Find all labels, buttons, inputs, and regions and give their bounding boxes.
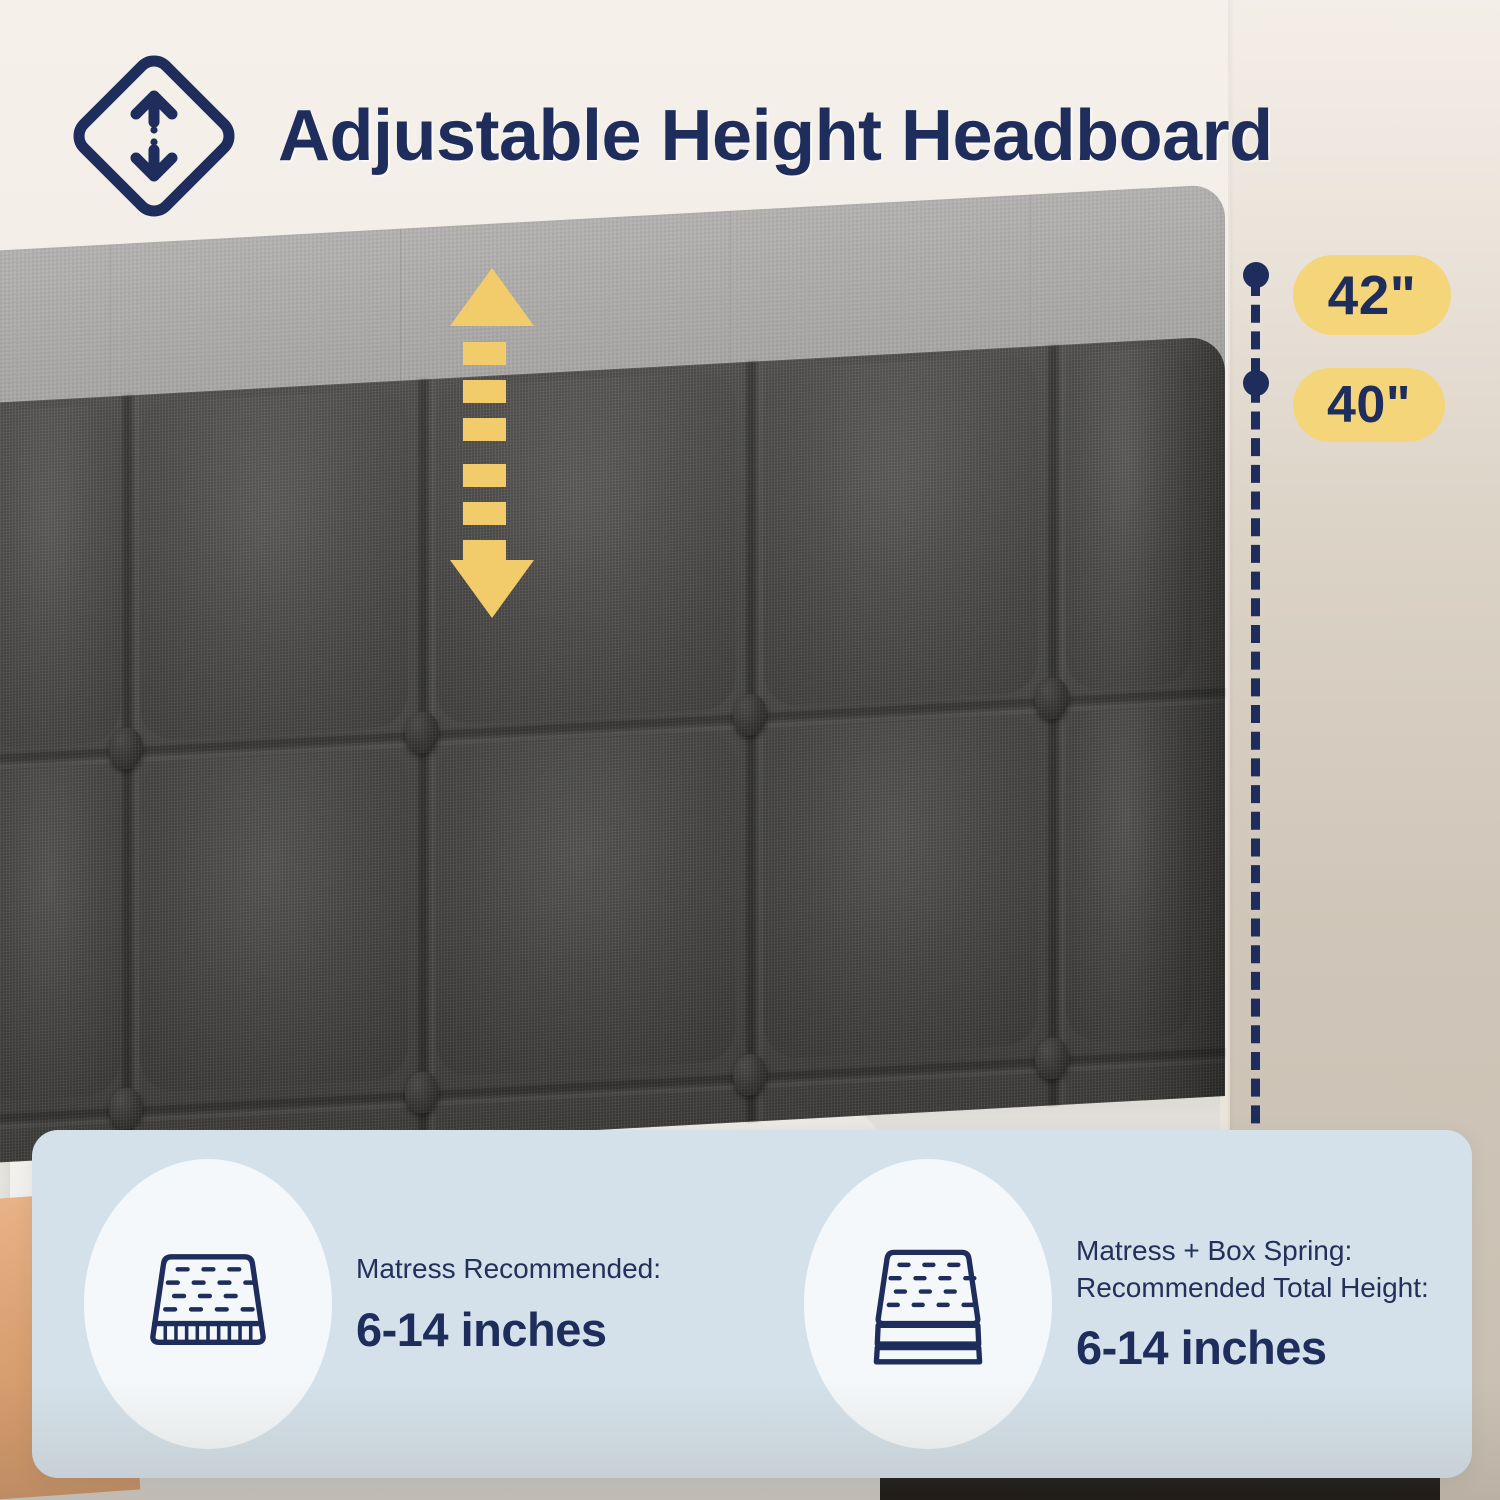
mattress-box-spring-label: Matress + Box Spring: Recommended Total … bbox=[1076, 1233, 1429, 1307]
page-title-row: Adjustable Height Headboard bbox=[66, 48, 1273, 224]
mattress-text-block: Matress Recommended: 6-14 inches bbox=[356, 1251, 661, 1357]
arrow-down-head bbox=[450, 560, 534, 618]
mattress-box-spring-label-line1: Matress + Box Spring: bbox=[1076, 1235, 1352, 1266]
tuft-button bbox=[405, 711, 439, 755]
measurement-dot-42 bbox=[1243, 262, 1269, 288]
tuft-button bbox=[733, 1053, 767, 1097]
mattress-value: 6-14 inches bbox=[356, 1302, 661, 1357]
page-title: Adjustable Height Headboard bbox=[278, 95, 1273, 177]
tuft-button bbox=[1035, 676, 1069, 720]
headboard-right-edge-shading bbox=[1125, 336, 1225, 1101]
tuft-button bbox=[109, 1087, 143, 1131]
tuft-button bbox=[733, 693, 767, 737]
product-infographic: 42" 40" Adjustable Height Headboard bbox=[0, 0, 1500, 1500]
height-adjust-diamond-icon bbox=[66, 48, 242, 224]
mattress-box-spring-text-block: Matress + Box Spring: Recommended Total … bbox=[1076, 1233, 1429, 1376]
height-badge-42: 42" bbox=[1293, 255, 1451, 335]
measurement-dot-40 bbox=[1243, 370, 1269, 396]
height-badge-40: 40" bbox=[1293, 368, 1445, 442]
headboard-body bbox=[0, 336, 1225, 1164]
arrow-up-head bbox=[450, 268, 534, 326]
dashed-measurement-line bbox=[1251, 278, 1260, 1150]
mattress-box-spring-label-line2: Recommended Total Height: bbox=[1076, 1272, 1429, 1303]
mattress-box-spring-value: 6-14 inches bbox=[1076, 1320, 1429, 1375]
up-down-adjust-arrow bbox=[437, 268, 547, 618]
tuft-button bbox=[109, 727, 143, 771]
floor-shadow bbox=[0, 1380, 1500, 1500]
mattress-icon bbox=[119, 1237, 297, 1371]
mattress-box-spring-icon bbox=[839, 1237, 1017, 1371]
tuft-button bbox=[1035, 1036, 1069, 1080]
mattress-label: Matress Recommended: bbox=[356, 1251, 661, 1288]
tuft-button bbox=[405, 1071, 439, 1115]
